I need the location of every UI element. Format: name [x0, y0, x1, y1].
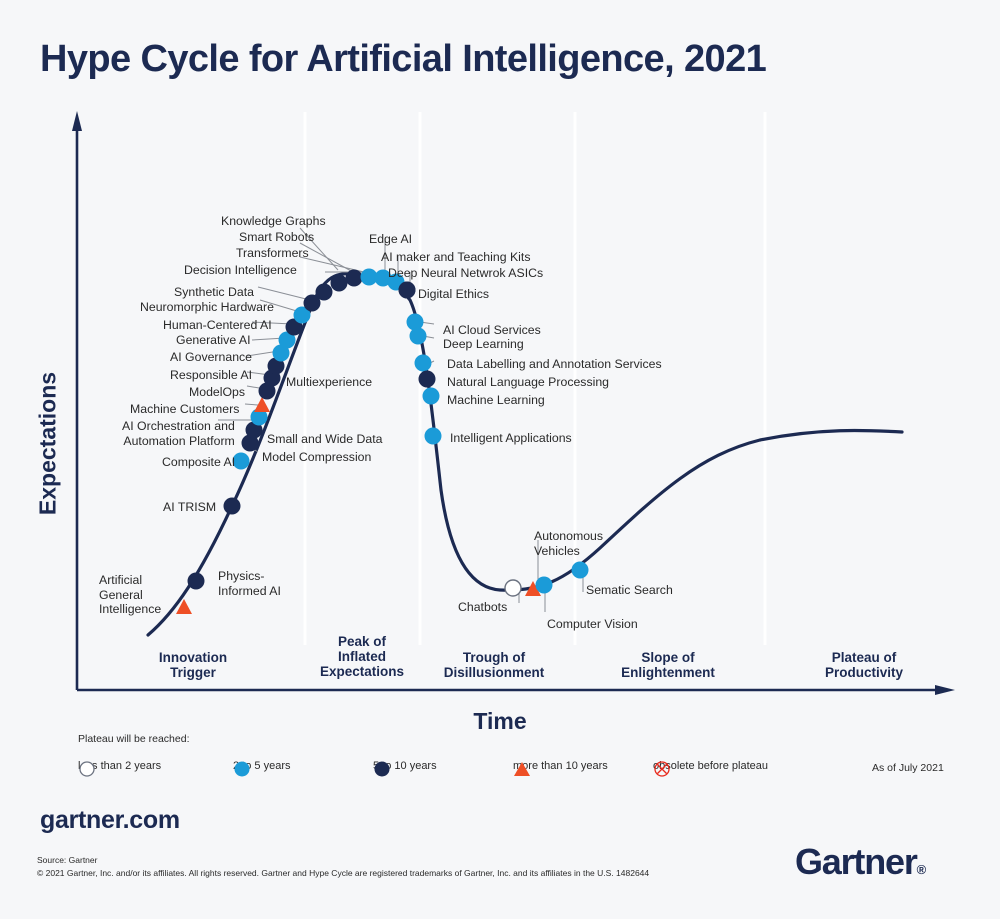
- data-point-marker[interactable]: [410, 328, 427, 345]
- phase-label-innovation-trigger: InnovationTrigger: [108, 650, 278, 680]
- data-point-marker[interactable]: [425, 428, 442, 445]
- data-point-marker[interactable]: [423, 388, 440, 405]
- circle-light-icon[interactable]: [415, 355, 432, 372]
- legend-header: Plateau will be reached:: [78, 733, 190, 745]
- circle-dark-icon[interactable]: [331, 275, 348, 292]
- x-axis-label: Time: [0, 708, 1000, 735]
- point-label: Responsible AI: [170, 368, 252, 383]
- point-label: Physics-Informed AI: [218, 569, 281, 598]
- circle-light-icon[interactable]: [536, 577, 553, 594]
- gartner-logo-text: Gartner: [795, 841, 917, 882]
- circle-hollow-icon[interactable]: [505, 580, 521, 596]
- source-note: Source: Gartner: [37, 855, 97, 865]
- circle-light-icon[interactable]: [572, 562, 589, 579]
- circle-dark-icon[interactable]: [399, 282, 416, 299]
- point-label: AutonomousVehicles: [534, 529, 603, 558]
- data-point-marker[interactable]: [346, 270, 363, 287]
- point-label: Deep Neural Netwrok ASICs: [388, 266, 543, 281]
- circle-dark-icon[interactable]: [316, 284, 333, 301]
- circle-cross-red-icon: [653, 760, 671, 778]
- y-axis-label: Expectations: [35, 334, 62, 554]
- circle-light-icon[interactable]: [410, 328, 427, 345]
- point-label: Intelligent Applications: [450, 431, 572, 446]
- point-label: Machine Learning: [447, 393, 545, 408]
- leader-line-14: [245, 404, 258, 405]
- point-label: Natural Language Processing: [447, 375, 609, 390]
- data-point-marker[interactable]: [316, 284, 333, 301]
- point-label: AI TRISM: [163, 500, 216, 515]
- circle-hollow-icon: [78, 760, 96, 778]
- y-axis-arrow-icon: [72, 111, 82, 131]
- data-point-marker[interactable]: [399, 282, 416, 299]
- point-label: AI Cloud Services: [443, 323, 541, 338]
- point-label: AI Orchestration andAutomation Platform: [122, 419, 235, 448]
- point-label: Small and Wide Data: [267, 432, 383, 447]
- phase-label-slope-of-enlightenment: Slope ofEnlightenment: [583, 650, 753, 680]
- registered-mark-icon: ®: [917, 862, 925, 877]
- point-label: Decision Intelligence: [184, 263, 297, 278]
- point-label: Machine Customers: [130, 402, 239, 417]
- point-label: Human-Centered AI: [163, 318, 272, 333]
- gartner-logo: Gartner®: [795, 841, 925, 883]
- point-label: Knowledge Graphs: [221, 214, 326, 229]
- circle-light-icon[interactable]: [425, 428, 442, 445]
- point-label: Generative AI: [176, 333, 251, 348]
- circle-dark-icon: [373, 760, 391, 778]
- copyright-note: © 2021 Gartner, Inc. and/or its affiliat…: [37, 868, 649, 878]
- legend-item-circle-hollow[interactable]: less than 2 years: [78, 760, 161, 772]
- data-point-marker[interactable]: [407, 314, 424, 331]
- x-axis-arrow-icon: [935, 685, 955, 695]
- circle-dark-icon[interactable]: [188, 573, 205, 590]
- data-point-marker[interactable]: [415, 355, 432, 372]
- phase-label-trough-of-disillusionment: Trough ofDisillusionment: [409, 650, 579, 680]
- point-label: Synthetic Data: [174, 285, 254, 300]
- legend-item-circle-dark[interactable]: 5 to 10 years: [373, 760, 437, 772]
- data-point-marker[interactable]: [536, 577, 553, 594]
- point-label: Deep Learning: [443, 337, 524, 352]
- circle-light-icon[interactable]: [407, 314, 424, 331]
- point-label: Digital Ethics: [418, 287, 489, 302]
- point-label: Transformers: [236, 246, 309, 261]
- point-label: Chatbots: [458, 600, 507, 615]
- circle-light-icon: [233, 760, 251, 778]
- data-point-marker[interactable]: [505, 580, 521, 596]
- phase-label-plateau-of-productivity: Plateau ofProductivity: [779, 650, 949, 680]
- point-label: Computer Vision: [547, 617, 638, 632]
- legend-item-triangle-orange[interactable]: more than 10 years: [513, 760, 608, 772]
- data-point-marker[interactable]: [572, 562, 589, 579]
- leader-line-8: [258, 287, 310, 300]
- as-of-date: As of July 2021: [872, 762, 944, 774]
- point-label: Model Compression: [262, 450, 371, 465]
- data-point-marker[interactable]: [331, 275, 348, 292]
- point-label: Smart Robots: [239, 230, 314, 245]
- point-label: Composite AI: [162, 455, 235, 470]
- hype-cycle-canvas: [0, 0, 1000, 919]
- gartner-site-link[interactable]: gartner.com: [40, 806, 180, 835]
- circle-dark-icon[interactable]: [419, 371, 436, 388]
- circle-dark-icon[interactable]: [346, 270, 363, 287]
- legend-item-circle-light[interactable]: 2 to 5 years: [233, 760, 290, 772]
- page-title: Hype Cycle for Artificial Intelligence, …: [40, 38, 766, 81]
- data-point-marker[interactable]: [188, 573, 205, 590]
- point-label: Edge AI: [369, 232, 412, 247]
- data-point-marker[interactable]: [224, 498, 241, 515]
- legend-item-circle-cross-red[interactable]: obsolete before plateau: [653, 760, 768, 772]
- point-label: Sematic Search: [586, 583, 673, 598]
- circle-light-icon[interactable]: [423, 388, 440, 405]
- point-label: ArtificialGeneralIntelligence: [99, 573, 161, 617]
- point-label: Multiexperience: [286, 375, 372, 390]
- circle-dark-icon[interactable]: [224, 498, 241, 515]
- data-point-marker[interactable]: [419, 371, 436, 388]
- point-label: Neuromorphic Hardware: [140, 300, 274, 315]
- triangle-orange-icon: [513, 760, 531, 778]
- point-label: AI Governance: [170, 350, 252, 365]
- point-label: AI maker and Teaching Kits: [381, 250, 530, 265]
- point-label: Data Labelling and Annotation Services: [447, 357, 662, 372]
- point-label: ModelOps: [189, 385, 245, 400]
